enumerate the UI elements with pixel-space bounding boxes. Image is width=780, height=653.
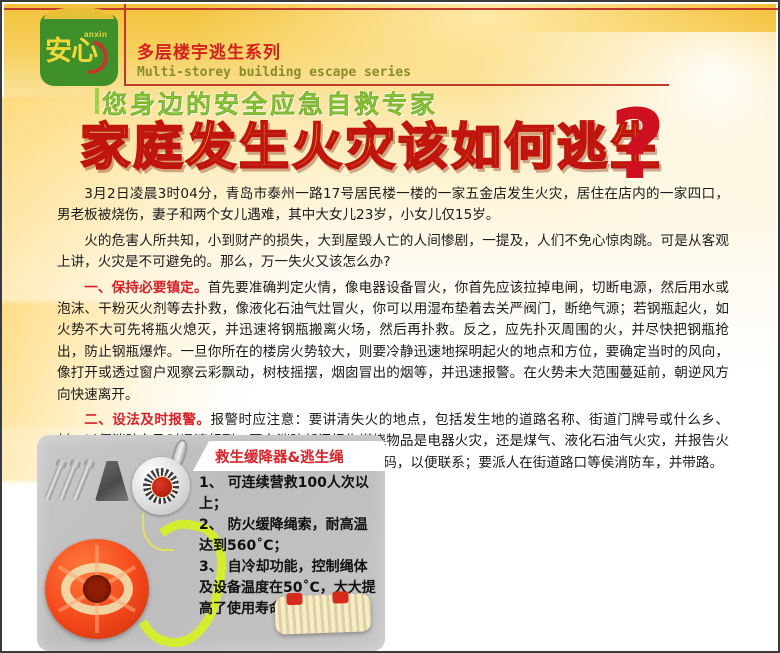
section-1-text: 首先要准确判定火情，像电器设备冒火，你首先应该拉掉电闸，切断电源，然后用水或泡沫… xyxy=(57,280,729,403)
header-vertical-divider xyxy=(124,4,126,86)
product-photo xyxy=(37,435,207,651)
series-title-en: Multi-storey building escape series xyxy=(137,65,537,80)
tagline-text: 您身边的安全应急自救专家 xyxy=(102,85,438,121)
question-mark-icon: ? xyxy=(610,97,666,193)
intro-paragraph-1: 3月2日凌晨3时04分，青岛市泰州一路17号居民楼一楼的一家五金店发生火灾，居住… xyxy=(57,184,729,227)
section-2-label: 二、设法及时报警。 xyxy=(84,412,210,428)
logo-pinyin-text: anxin xyxy=(84,30,107,39)
poster-header: 安心 anxin 多层楼宇逃生系列 Multi-storey building … xyxy=(4,4,780,86)
coiled-rope-icon xyxy=(274,593,371,634)
product-banner: 救生缓降器&逃生绳 xyxy=(193,441,385,471)
brand-logo: 安心 anxin xyxy=(40,10,118,86)
tagline-accent-bar xyxy=(95,88,99,114)
product-feature-item: 2、 防火缓降绳索，耐高温达到560˚C； xyxy=(199,515,379,557)
reel-spoke xyxy=(95,545,99,633)
product-showcase-panel: 救生缓降器&逃生绳 1、 可连续营救100人次以上； 2、 防火缓降绳索，耐高温… xyxy=(37,435,385,651)
descender-device-icon xyxy=(132,457,190,515)
section-1-paragraph: 一、保持必要镇定。首先要准确判定火情，像电器设备冒火，你首先应该拉掉电闸，切断电… xyxy=(57,278,729,406)
header-top-rule xyxy=(4,8,780,10)
lower-section: 救生缓降器&逃生绳 1、 可连续营救100人次以上； 2、 防火缓降绳索，耐高温… xyxy=(2,432,780,653)
series-title-cn: 多层楼宇逃生系列 xyxy=(137,38,537,63)
product-feature-item: 1、 可连续营救100人次以上； xyxy=(199,473,379,515)
header-series-block: 多层楼宇逃生系列 Multi-storey building escape se… xyxy=(137,38,537,80)
product-banner-title: 救生缓降器&逃生绳 xyxy=(215,446,344,467)
section-1-label: 一、保持必要镇定。 xyxy=(84,280,208,296)
intro-paragraph-2: 火的危害人所共知，小到财产的损失，大到屋毁人亡的人间惨剧，一提及，人们不免心惊肉… xyxy=(57,231,729,274)
mounting-plate-icon xyxy=(95,461,129,501)
fire-safety-poster: 安心 anxin 多层楼宇逃生系列 Multi-storey building … xyxy=(0,0,780,653)
